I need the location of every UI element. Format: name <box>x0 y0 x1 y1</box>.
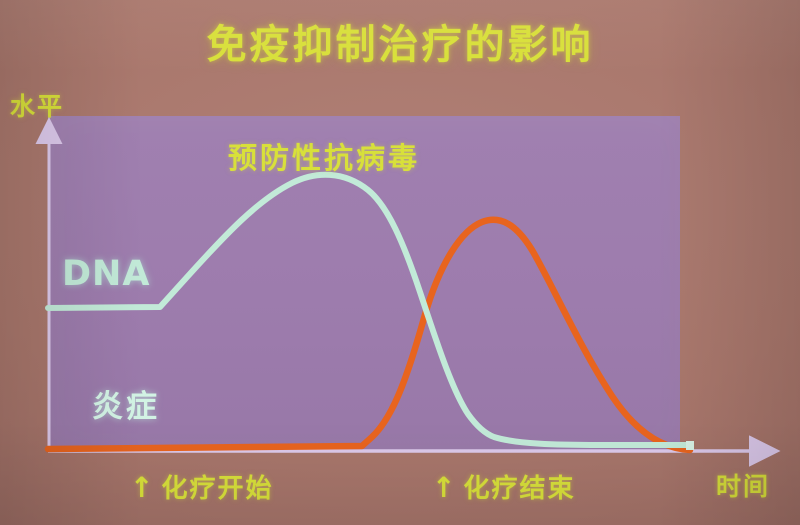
event-marker-chemo-end: ↑化疗结束 <box>432 472 575 505</box>
event-marker-chemo-end-label: 化疗结束 <box>463 474 575 504</box>
prophylaxis-annotation: 预防性抗病毒 <box>228 140 420 176</box>
inflammation-series-label: 炎症 <box>92 388 160 426</box>
curve-endpoint-marker <box>686 441 694 450</box>
event-marker-chemo-start: ↑化疗开始 <box>130 472 273 505</box>
up-arrow-icon: ↑ <box>130 471 161 504</box>
up-arrow-icon: ↑ <box>432 471 463 504</box>
dna-series-label: DNA <box>62 253 150 295</box>
presentation-slide: 免疫抑制治疗的影响 水平 时间 预防性抗病毒 DNA 炎症 ↑化疗开始 ↑化疗结… <box>0 0 800 525</box>
event-marker-chemo-start-label: 化疗开始 <box>161 474 273 504</box>
